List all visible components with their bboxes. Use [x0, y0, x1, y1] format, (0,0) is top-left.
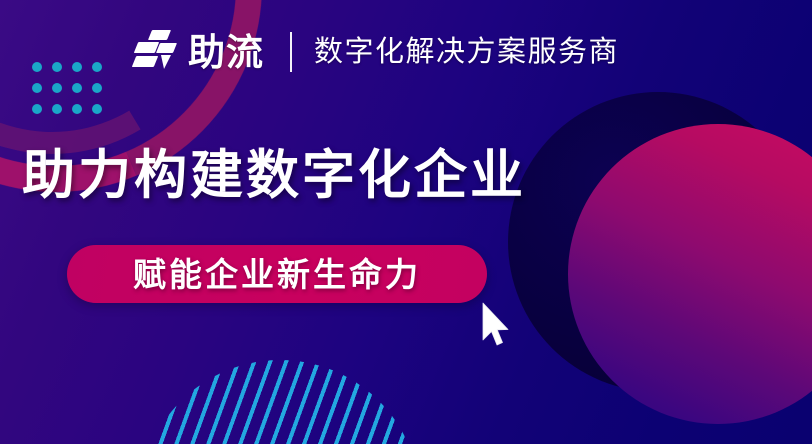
cta-pill-label: 赋能企业新生命力 [133, 258, 421, 291]
grid-dot [72, 104, 82, 114]
lightning-bolt-icon [159, 55, 171, 69]
grid-dot [32, 104, 42, 114]
cta-pill-button[interactable]: 赋能企业新生命力 [67, 245, 487, 303]
grid-dot [92, 104, 102, 114]
grid-dot [92, 83, 102, 93]
brand-name: 助流 [188, 34, 264, 71]
cyan-diagonal-stripe-dome [140, 360, 420, 444]
mouse-pointer-arrow-icon [481, 302, 511, 348]
magenta-gradient-circle [568, 124, 812, 424]
logo-bar-4 [132, 56, 158, 67]
brand-header: 助流 数字化解决方案服务商 [132, 22, 619, 82]
dark-navy-circle [508, 92, 808, 392]
dot-grid [32, 62, 112, 125]
grid-dot [32, 83, 42, 93]
hero-headline: 助力构建数字化企业 [22, 148, 526, 204]
stripe-fill [140, 360, 420, 444]
promo-banner: 助流 数字化解决方案服务商 助力构建数字化企业 赋能企业新生命力 [0, 0, 812, 444]
grid-dot [52, 83, 62, 93]
header-divider [290, 32, 292, 72]
grid-dot [72, 83, 82, 93]
grid-dot [92, 62, 102, 72]
logo-bar-1 [148, 30, 171, 40]
grid-dot [52, 62, 62, 72]
logo-bar-3 [156, 43, 177, 53]
brand-tagline: 数字化解决方案服务商 [314, 38, 619, 67]
grid-dot [32, 62, 42, 72]
grid-dot [72, 62, 82, 72]
zhuliu-logo-mark-icon [132, 28, 180, 76]
grid-dot [52, 104, 62, 114]
